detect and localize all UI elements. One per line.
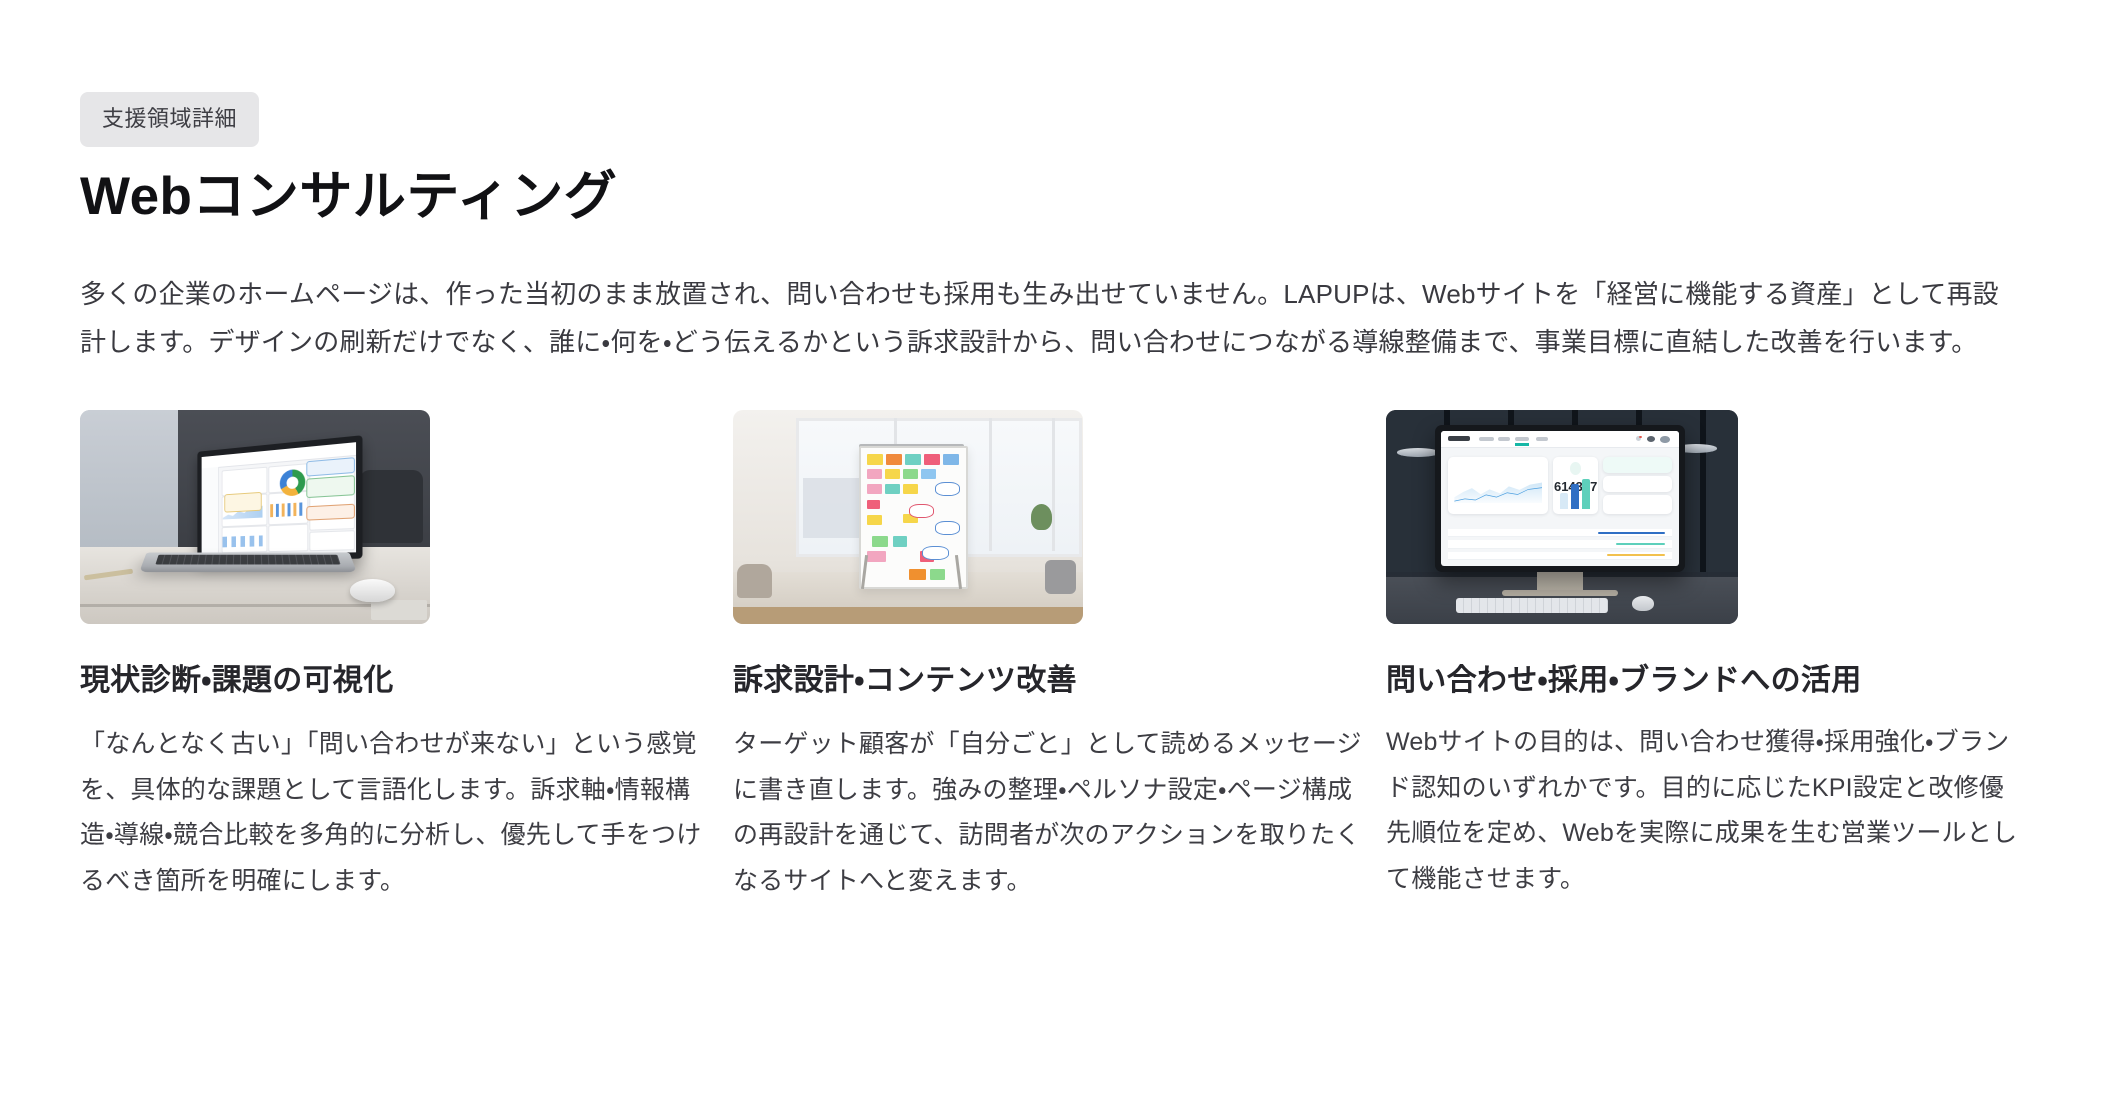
sticky-note-decor	[921, 469, 936, 479]
bar-chart-decor	[270, 502, 303, 517]
page-title: Webコンサルティング	[80, 165, 2038, 230]
wall-left-decor	[80, 410, 182, 551]
window-mullion-decor	[1052, 418, 1055, 551]
plant-decor	[1031, 504, 1052, 530]
sticky-note-decor	[909, 569, 926, 580]
row-progress-decor	[1598, 532, 1665, 534]
whiteboard-decor	[859, 446, 968, 589]
feature-card: 現状診断・課題の可視化 「なんとなく古い」「問い合わせが来ない」という感覚を、具…	[80, 410, 720, 905]
dashboard-active-tab-underline-decor	[1515, 443, 1529, 446]
dashboard-tile-decor	[268, 523, 308, 551]
dashboard-nav-item-decor	[1498, 437, 1510, 441]
feature-card-title: 問い合わせ・採用・ブランドへの活用	[1386, 660, 2026, 703]
window-mullion-decor	[989, 418, 992, 551]
badge-row: 支援領域詳細	[80, 0, 2038, 147]
annotation-note-decor	[306, 504, 355, 521]
dashboard-nav-item-decor	[1515, 437, 1529, 441]
page-root: 支援領域詳細 Webコンサルティング 多くの企業のホームページは、作った当初のま…	[0, 0, 2118, 1094]
table-row	[1448, 529, 1672, 537]
monitor-bezel-decor: 614327	[1435, 425, 1685, 573]
annotation-note-decor	[224, 492, 261, 512]
kpi-bar-decor	[1571, 484, 1579, 509]
dashboard-ui-decor: 614327	[1441, 431, 1679, 567]
feature-card-grid: 現状診断・課題の可視化 「なんとなく古い」「問い合わせが来ない」という感覚を、具…	[80, 410, 2038, 905]
monitor-stand-base-decor	[1502, 590, 1618, 596]
dashboard-nav-item-decor	[1479, 437, 1493, 441]
sticky-note-decor	[867, 515, 882, 525]
chair-decor	[737, 564, 772, 598]
feature-card: 訴求設計・コンテンツ改善 ターゲット顧客が「自分ごと」として読めるメッセージに書…	[733, 410, 1373, 905]
sticky-note-decor	[893, 536, 908, 547]
row-progress-decor	[1616, 543, 1665, 545]
dashboard-navbar-decor	[1441, 431, 1679, 448]
table-row	[1448, 540, 1672, 548]
sticky-note-decor	[867, 484, 882, 494]
notepad-decor	[371, 600, 427, 619]
kpi-icon-decor	[1570, 462, 1581, 475]
annotation-note-decor	[306, 475, 355, 498]
diagram-bubble-decor	[935, 521, 960, 536]
feature-card-title: 訴求設計・コンテンツ改善	[733, 660, 1373, 703]
sticky-note-decor	[867, 500, 880, 510]
sticky-note-decor	[943, 454, 959, 465]
feature-card: 614327	[1386, 410, 2026, 905]
row-progress-decor	[1607, 554, 1665, 556]
dashboard-nav-item-decor	[1536, 437, 1548, 441]
ceiling-lamp-decor	[1397, 448, 1439, 457]
laptop-analytics-dashboard-photo	[80, 410, 430, 624]
conversion-chart-card-decor	[1448, 457, 1548, 514]
diagram-bubble-decor	[935, 482, 960, 497]
side-widget-card-decor	[1603, 457, 1672, 473]
table-decor	[733, 607, 1083, 624]
mouse-decor	[1632, 596, 1653, 611]
kpi-bar-decor	[1582, 479, 1590, 509]
intro-paragraph: 多くの企業のホームページは、作った当初のまま放置され、問い合わせも採用も生み出せ…	[80, 270, 2010, 366]
dashboard-ui-decor	[201, 442, 356, 555]
side-widget-card-decor	[1603, 476, 1672, 492]
desktop-monitor-leads-dashboard-photo: 614327	[1386, 410, 1738, 624]
feature-card-body: ターゲット顧客が「自分ごと」として読めるメッセージに書き直します。強みの整理・ペ…	[733, 722, 1373, 904]
leads-kpi-card-decor: 614327	[1553, 457, 1598, 514]
avatar	[1647, 436, 1655, 442]
sticky-note-decor	[930, 569, 945, 580]
section-badge: 支援領域詳細	[80, 92, 259, 147]
avatar	[1660, 436, 1670, 443]
diagram-bubble-decor	[922, 546, 949, 561]
office-chair-decor	[360, 470, 423, 543]
sticky-note-decor	[905, 454, 921, 465]
sticky-note-decor	[886, 454, 902, 465]
sticky-note-decor	[924, 454, 940, 465]
sticky-note-decor	[867, 469, 882, 479]
kpi-bar-decor	[1560, 493, 1568, 509]
side-widget-card-decor	[1603, 495, 1672, 514]
table-row	[1448, 552, 1672, 560]
recent-leads-table-decor	[1448, 520, 1672, 563]
content-container: 支援領域詳細 Webコンサルティング 多くの企業のホームページは、作った当初のま…	[80, 0, 2038, 904]
bar-chart-decor	[222, 536, 262, 548]
sticky-note-decor	[885, 484, 900, 494]
sticky-note-decor	[867, 551, 886, 562]
mouse-decor	[350, 579, 396, 603]
feature-card-title: 現状診断・課題の可視化	[80, 660, 720, 703]
laptop-keyboard-decor	[155, 555, 340, 565]
sticky-note-decor	[903, 469, 918, 479]
area-chart-decor	[1454, 482, 1542, 504]
notification-dot-decor	[1639, 436, 1642, 438]
keyboard-decor	[1456, 598, 1607, 613]
sticky-note-decor	[903, 484, 918, 494]
sticky-note-decor	[872, 536, 889, 547]
sticky-note-decor	[867, 454, 883, 465]
feature-card-body: Webサイトの目的は、問い合わせ獲得・採用強化・ブランド認知のいずれかです。目的…	[1386, 720, 2026, 902]
dashboard-tile-decor	[309, 530, 355, 551]
diagram-bubble-decor	[909, 504, 934, 519]
dashboard-sidebar-decor	[201, 467, 219, 555]
laptop-screen-decor	[197, 435, 362, 561]
chair-decor	[1045, 560, 1077, 594]
sticky-note-decor	[885, 469, 900, 479]
team-whiteboard-workshop-photo	[733, 410, 1083, 624]
dashboard-brand-decor	[1448, 436, 1469, 441]
feature-card-body: 「なんとなく古い」「問い合わせが来ない」という感覚を、具体的な課題として言語化し…	[80, 722, 720, 904]
